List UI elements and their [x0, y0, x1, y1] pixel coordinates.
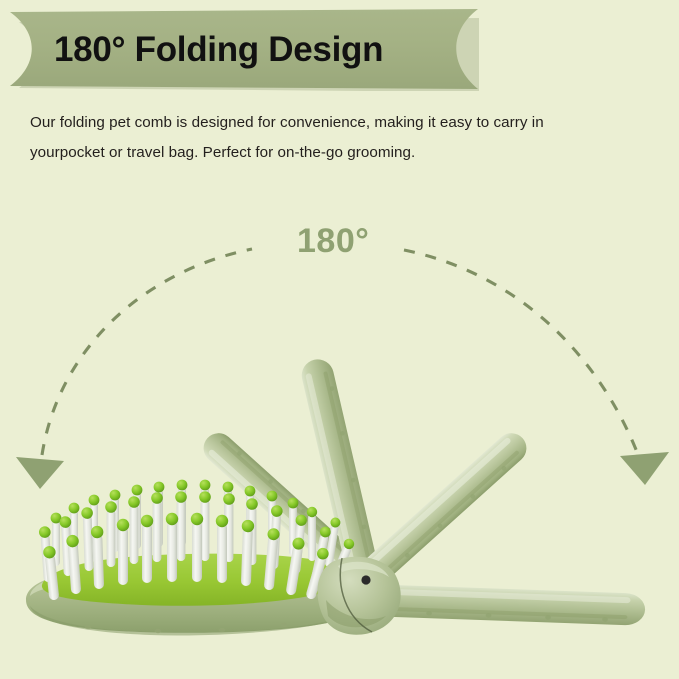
handle-lower-right [364, 584, 645, 626]
product-illustration [0, 300, 679, 679]
infographic-canvas: 180° Folding Design Our folding pet comb… [0, 0, 679, 679]
page-title: 180° Folding Design [54, 26, 454, 76]
header-banner: 180° Folding Design [8, 9, 480, 91]
hinge-pivot-pin [361, 575, 370, 584]
angle-label: 180° [297, 222, 369, 261]
folding-hinge [317, 557, 400, 635]
feature-description: Our folding pet comb is designed for con… [30, 108, 575, 168]
